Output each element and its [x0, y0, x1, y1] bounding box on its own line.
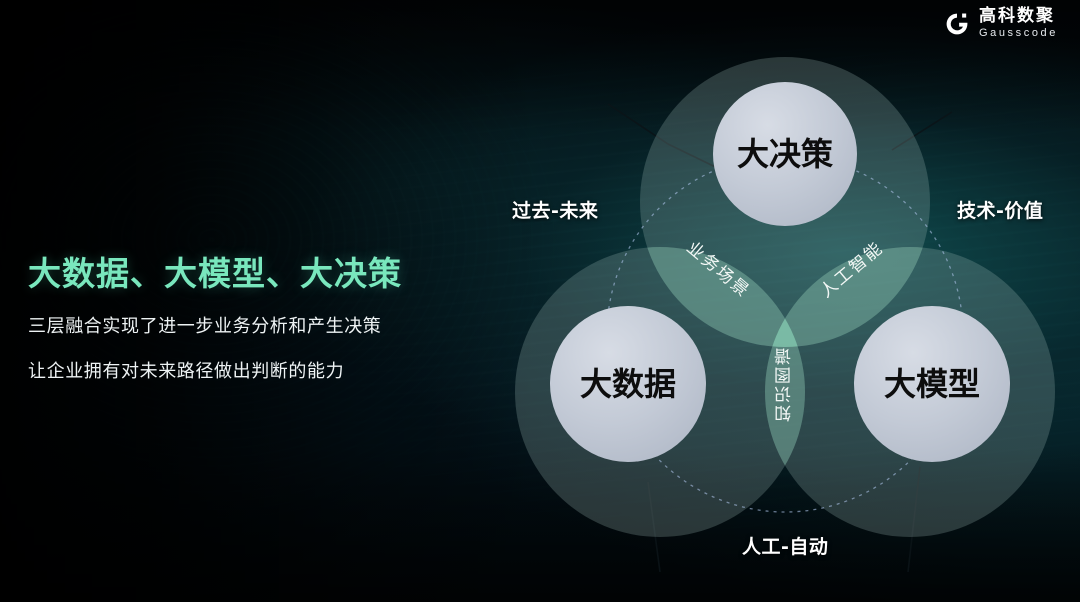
label-bigdata: 大数据	[580, 365, 676, 403]
axis-label-manual-auto: 人工-自动	[742, 532, 828, 559]
axis-label-past-future: 过去-未来	[512, 196, 598, 223]
label-knowledge-graph: 知识图谱	[775, 346, 796, 422]
venn-svg: 大决策 大数据 大模型 业务场景 人工智能 知识图谱	[500, 12, 1070, 572]
axis-label-tech-value: 技术-价值	[957, 196, 1043, 223]
page-title: 大数据、大模型、大决策	[28, 255, 468, 293]
venn-diagram: 大决策 大数据 大模型 业务场景 人工智能 知识图谱	[500, 12, 1070, 572]
slide-root: 高科数聚 Gausscode 大数据、大模型、大决策 三层融合实现了进一步业务分…	[0, 0, 1080, 602]
copy-subtitle-line-1: 三层融合实现了进一步业务分析和产生决策	[28, 314, 468, 340]
label-bigmodel: 大模型	[884, 365, 980, 403]
copy-subtitle-line-2: 让企业拥有对未来路径做出判断的能力	[28, 359, 468, 385]
label-decision: 大决策	[737, 135, 833, 173]
copy-block: 大数据、大模型、大决策 三层融合实现了进一步业务分析和产生决策 让企业拥有对未来…	[28, 255, 468, 385]
